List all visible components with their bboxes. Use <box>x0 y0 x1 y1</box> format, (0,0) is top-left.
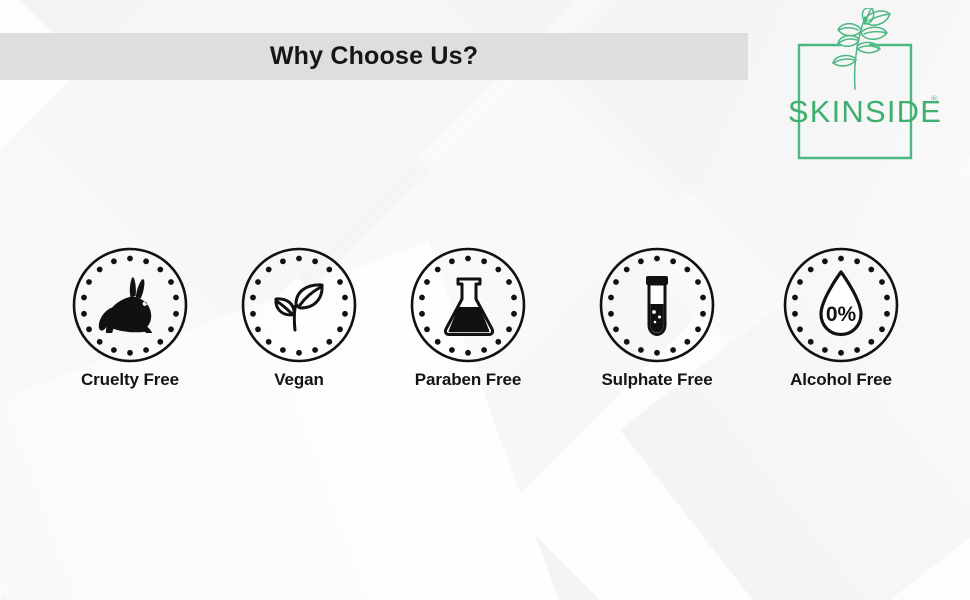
trust-badges-row: Cruelty Free <box>0 246 970 396</box>
promo-banner: Why Choose Us? <box>0 0 970 600</box>
badge-alcohol-free[interactable]: 0% Alcohol Free <box>761 246 921 390</box>
test-tube-icon <box>598 246 716 364</box>
brand-wordmark: SKINSIDE <box>774 94 956 130</box>
badge-label: Paraben Free <box>415 370 522 390</box>
badge-label: Vegan <box>274 370 324 390</box>
leaf-sprig-icon <box>802 8 908 90</box>
registered-trademark-icon: ® <box>931 94 938 104</box>
erlenmeyer-flask-icon <box>409 246 527 364</box>
badge-label: Sulphate Free <box>601 370 712 390</box>
badge-cruelty-free[interactable]: Cruelty Free <box>50 246 210 390</box>
leaf-sprout-icon <box>240 246 358 364</box>
water-droplet-icon: 0% <box>782 246 900 364</box>
page-title: Why Choose Us? <box>270 42 478 71</box>
badge-label: Alcohol Free <box>790 370 892 390</box>
badge-sulphate-free[interactable]: Sulphate Free <box>577 246 737 390</box>
badge-label: Cruelty Free <box>81 370 179 390</box>
brand-logo[interactable]: SKINSIDE ® <box>770 8 960 160</box>
header-band: Why Choose Us? <box>0 33 748 80</box>
badge-vegan[interactable]: Vegan <box>219 246 379 390</box>
rabbit-icon <box>71 246 189 364</box>
badge-paraben-free[interactable]: Paraben Free <box>388 246 548 390</box>
droplet-percent-label: 0% <box>826 303 857 326</box>
